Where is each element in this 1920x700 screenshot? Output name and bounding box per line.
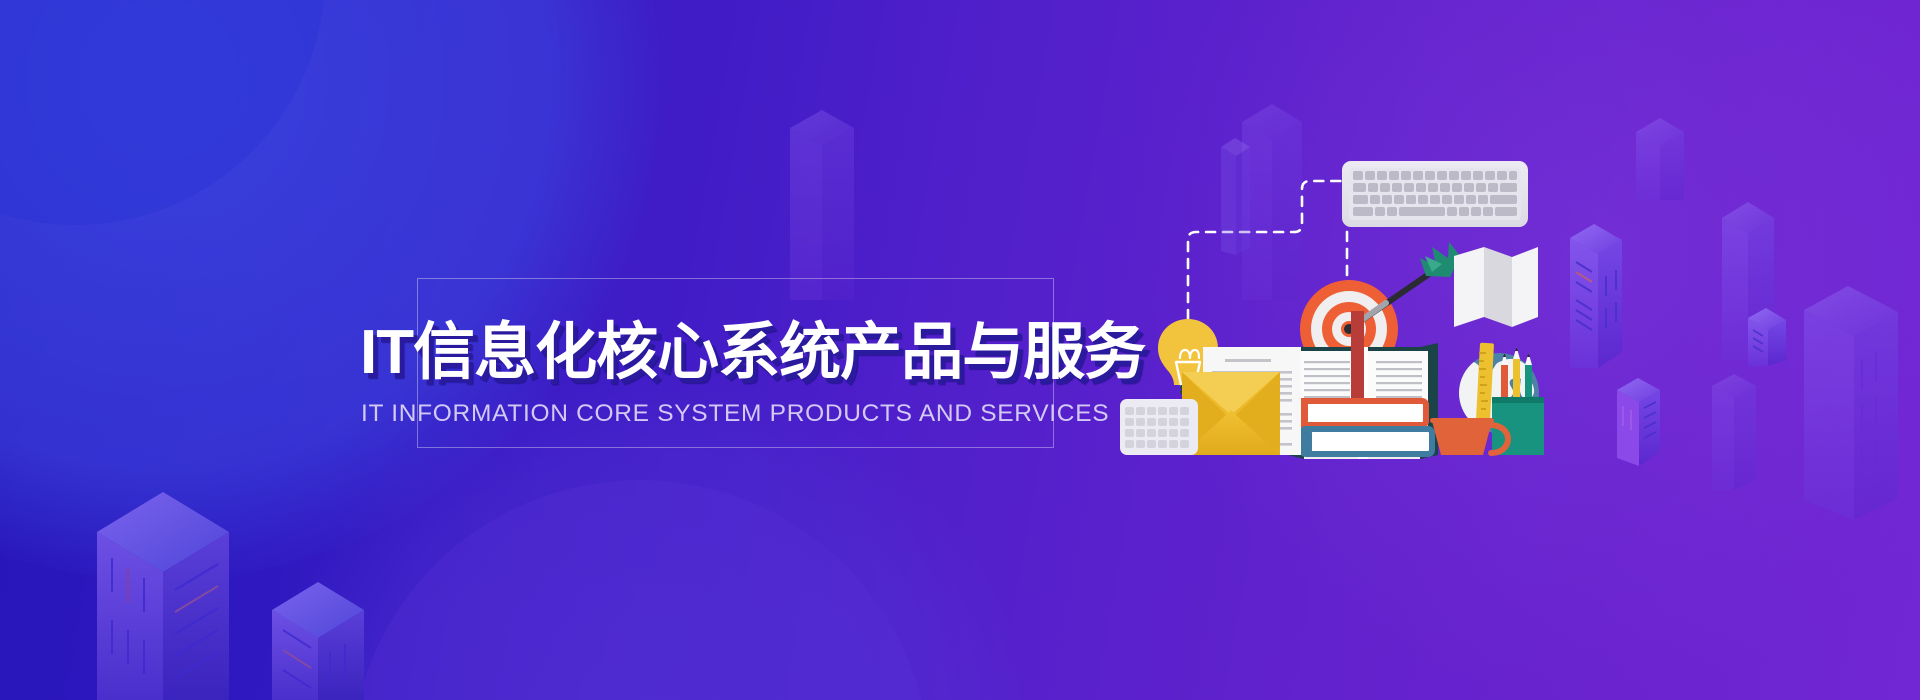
hero-illustration [1120,125,1550,475]
iso-building [1617,378,1660,466]
iso-building [1636,118,1684,200]
folded-map-icon [1454,247,1538,327]
iso-building [1712,374,1756,490]
iso-building [97,492,229,700]
page-subtitle: IT INFORMATION CORE SYSTEM PRODUCTS AND … [361,400,1121,428]
iso-building [1570,224,1622,368]
keyboard-large-icon [1342,161,1528,227]
stacked-books-icon [1298,401,1432,454]
iso-building [1804,286,1898,520]
iso-building [1221,138,1250,255]
keyboard-small-icon [1120,399,1198,455]
iso-building [790,110,854,300]
headline-container: IT信息化核心系统产品与服务 [360,322,1120,384]
iso-building [272,582,364,700]
page-title: IT信息化核心系统产品与服务 [360,322,1120,384]
hero-banner: IT信息化核心系统产品与服务 IT INFORMATION CORE SYSTE… [0,0,1920,700]
iso-building [1748,308,1786,366]
